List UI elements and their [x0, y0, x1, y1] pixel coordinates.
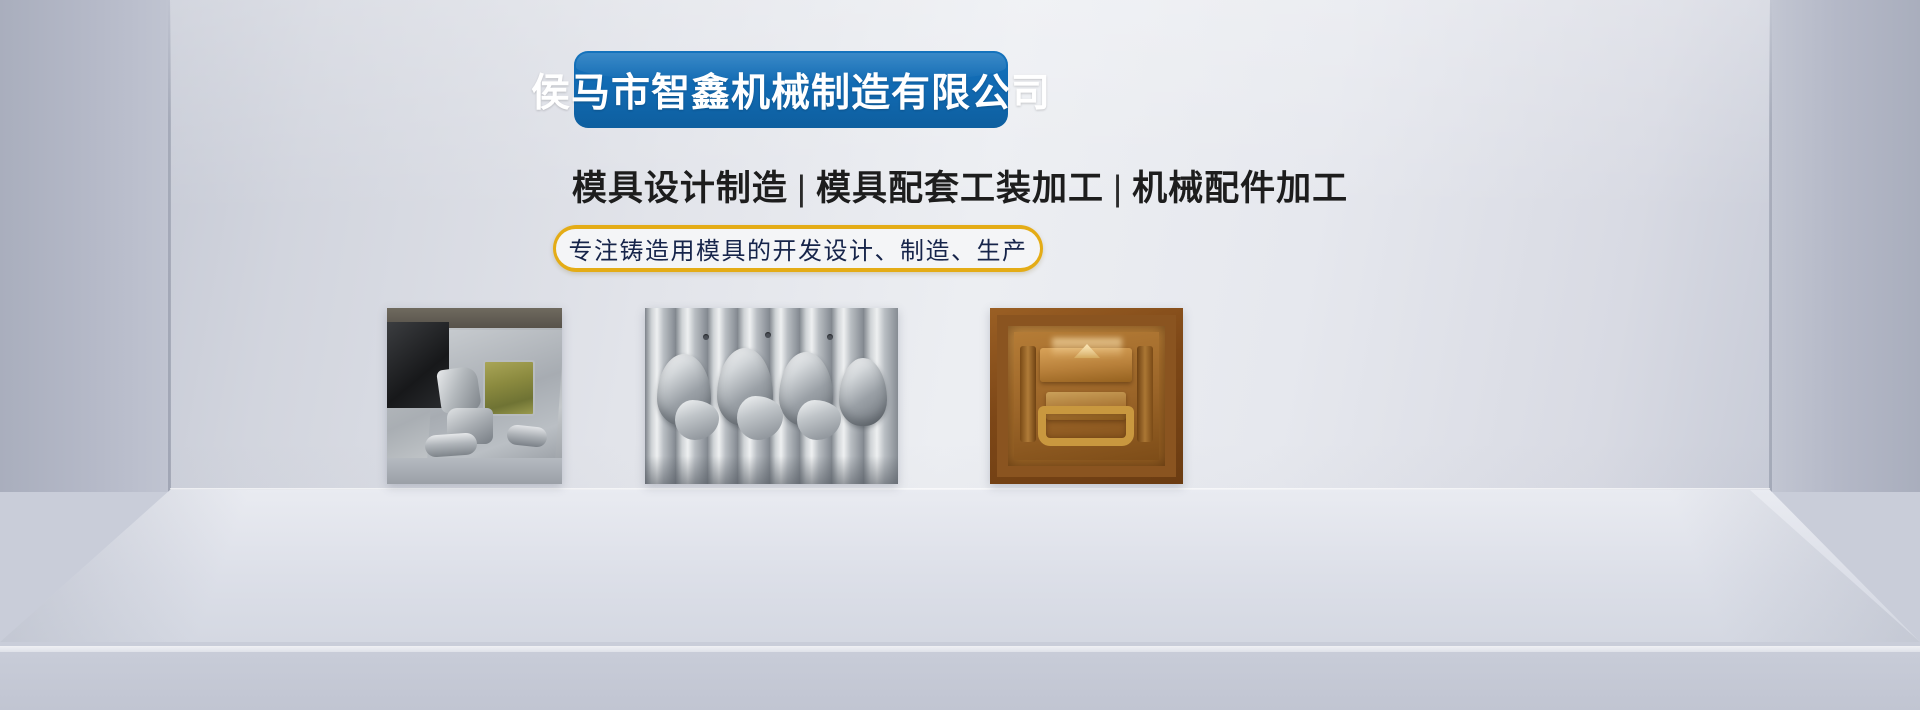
- service-list: 模具设计制造|模具配套工装加工|机械配件加工: [0, 160, 1920, 211]
- product-photo-2-image: [645, 308, 898, 484]
- service-item-3: 机械配件加工: [1132, 169, 1348, 208]
- company-title: 侯马市智鑫机械制造有限公司: [531, 62, 1051, 118]
- service-separator-1: |: [788, 169, 816, 208]
- product-photo-3-image: [990, 308, 1183, 484]
- tagline-pill: 专注铸造用模具的开发设计、制造、生产: [553, 225, 1043, 272]
- company-title-banner: 侯马市智鑫机械制造有限公司: [574, 51, 1008, 128]
- tagline-inner: 专注铸造用模具的开发设计、制造、生产: [556, 229, 1040, 268]
- service-item-1: 模具设计制造: [572, 169, 788, 208]
- product-photo-wooden-pattern[interactable]: [990, 308, 1183, 484]
- product-photo-aluminium-mould[interactable]: [387, 308, 562, 484]
- product-photo-impeller-mould[interactable]: [645, 308, 898, 484]
- service-separator-2: |: [1104, 169, 1132, 208]
- product-photo-1-image: [387, 308, 562, 484]
- service-item-2: 模具配套工装加工: [816, 169, 1104, 208]
- tagline-text: 专注铸造用模具的开发设计、制造、生产: [569, 231, 1028, 266]
